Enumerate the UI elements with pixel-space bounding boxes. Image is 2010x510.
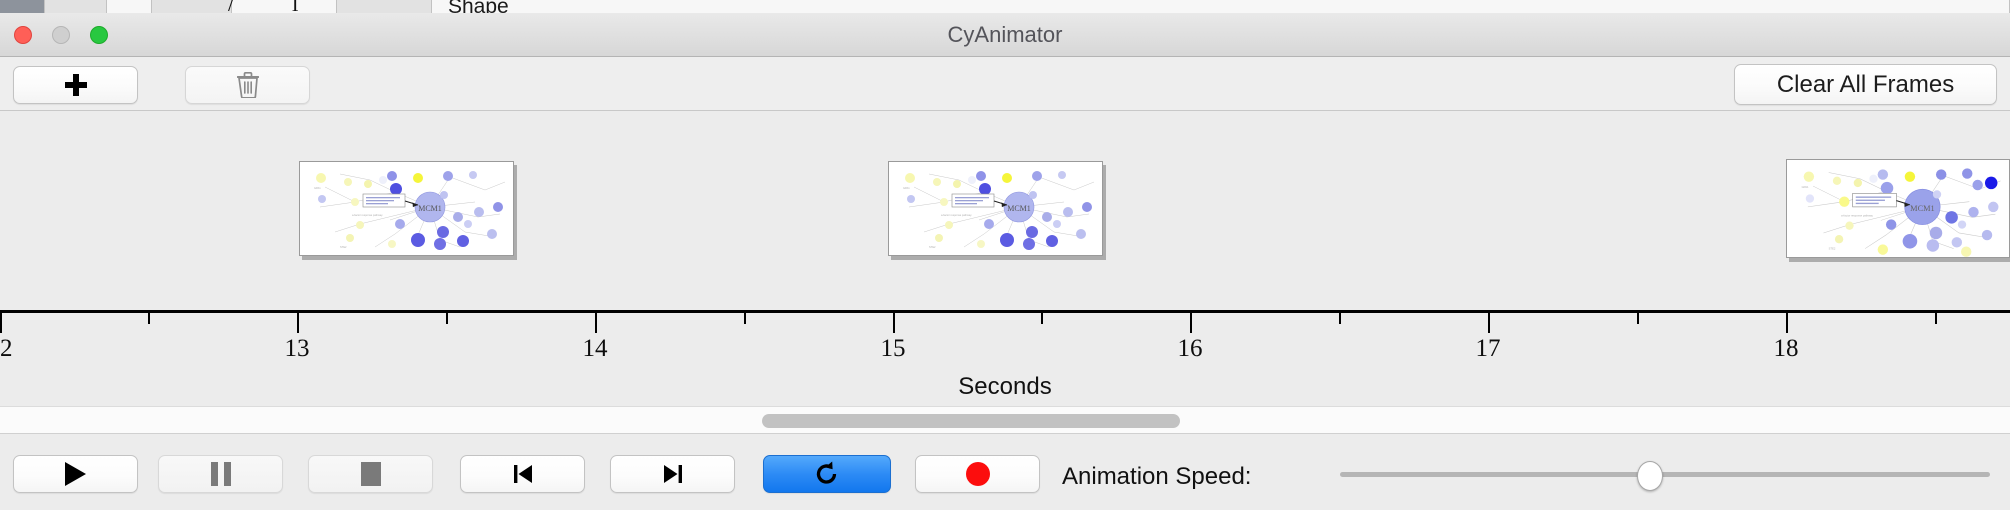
axis-tick-minor xyxy=(1637,313,1639,324)
axis-tick-major xyxy=(1488,313,1490,333)
bg-chunk xyxy=(45,0,107,13)
axis-tick-major xyxy=(893,313,895,333)
svg-text:STE2: STE2 xyxy=(340,245,347,249)
axis-tick-major xyxy=(297,313,299,333)
svg-text:STE2: STE2 xyxy=(929,245,936,249)
timeline-axis xyxy=(0,310,2010,313)
scrollbar-thumb[interactable] xyxy=(762,414,1180,428)
axis-tick-label: 18 xyxy=(1774,335,1799,363)
play-icon xyxy=(65,462,86,486)
skip-previous-icon xyxy=(510,461,536,487)
bg-chunk xyxy=(0,0,45,13)
page-title: CyAnimator xyxy=(0,13,2010,57)
maximize-button[interactable] xyxy=(90,26,108,44)
axis-tick-major xyxy=(1190,313,1192,333)
title-bar: CyAnimator xyxy=(0,13,2010,57)
toolbar: Clear All Frames xyxy=(0,57,2010,111)
frame-thumbnail-1[interactable]: MCM1 a-factor response pathway GPA1 STE2 xyxy=(299,161,514,256)
minimize-button[interactable] xyxy=(52,26,70,44)
frame-thumbnail-3[interactable]: MCM1 a-factor response pathway GPA1 STE2 xyxy=(1786,159,2010,258)
record-icon xyxy=(966,462,990,486)
bg-chunk xyxy=(337,0,432,13)
axis-tick-minor xyxy=(1041,313,1043,324)
axis-title: Seconds xyxy=(0,373,2010,401)
axis-tick-minor xyxy=(1339,313,1341,324)
svg-text:a-factor response pathway: a-factor response pathway xyxy=(352,213,383,217)
axis-tick-major xyxy=(0,313,2,333)
skip-next-icon xyxy=(660,461,686,487)
pause-icon xyxy=(211,462,231,486)
bg-slash-glyph: / xyxy=(228,0,234,13)
bg-chunk xyxy=(232,0,337,13)
previous-frame-button[interactable] xyxy=(460,455,585,493)
svg-text:MCM1: MCM1 xyxy=(1910,204,1935,213)
svg-text:GPA1: GPA1 xyxy=(1802,185,1809,189)
add-frame-button[interactable] xyxy=(13,66,138,104)
svg-text:a-factor response pathway: a-factor response pathway xyxy=(1841,213,1873,217)
axis-tick-minor xyxy=(148,313,150,324)
axis-tick-major xyxy=(1786,313,1788,333)
axis-tick-minor xyxy=(1935,313,1937,324)
timeline-scrollbar[interactable] xyxy=(0,406,2010,434)
trash-icon xyxy=(237,72,259,98)
stop-button[interactable] xyxy=(308,455,433,493)
network-graph-thumbnail: MCM1 a-factor response pathway GPA1 STE2 xyxy=(300,162,514,256)
clear-all-frames-button[interactable]: Clear All Frames xyxy=(1734,64,1997,105)
svg-text:STE2: STE2 xyxy=(1829,247,1836,251)
record-button[interactable] xyxy=(915,455,1040,493)
loop-button[interactable] xyxy=(763,455,891,493)
bg-window-label: Shape xyxy=(448,0,509,13)
axis-tick-label: 13 xyxy=(285,335,310,363)
animation-speed-label: Animation Speed: xyxy=(1062,463,1251,491)
animation-speed-slider[interactable] xyxy=(1340,472,1990,477)
next-frame-button[interactable] xyxy=(610,455,735,493)
timeline-panel[interactable]: MCM1 a-factor response pathway GPA1 STE2 xyxy=(0,111,2010,406)
axis-tick-label: 17 xyxy=(1476,335,1501,363)
play-button[interactable] xyxy=(13,455,138,493)
pause-button[interactable] xyxy=(158,455,283,493)
bg-chunk xyxy=(152,0,232,13)
bg-chunk xyxy=(107,0,152,13)
stop-icon xyxy=(361,462,381,486)
axis-tick-label: 15 xyxy=(881,335,906,363)
axis-tick-minor xyxy=(446,313,448,324)
svg-text:MCM1: MCM1 xyxy=(418,204,442,213)
axis-tick-label: 14 xyxy=(583,335,608,363)
axis-tick-major xyxy=(595,313,597,333)
bg-bar-glyph: l xyxy=(292,0,298,13)
svg-text:MCM1: MCM1 xyxy=(1007,204,1031,213)
network-graph-thumbnail: MCM1 a-factor response pathway GPA1 STE2 xyxy=(1787,160,2010,258)
svg-text:a-factor response pathway: a-factor response pathway xyxy=(941,213,972,217)
animation-speed-slider-thumb[interactable] xyxy=(1637,461,1663,491)
playback-bar: Animation Speed: xyxy=(0,435,2010,510)
loop-icon xyxy=(813,460,841,488)
background-window-strip: / l Shape xyxy=(0,0,2010,13)
plus-icon xyxy=(65,74,87,96)
network-graph-thumbnail: MCM1 a-factor response pathway GPA1 STE2 xyxy=(889,162,1103,256)
axis-tick-label: 12 xyxy=(0,335,13,363)
delete-frame-button[interactable] xyxy=(185,66,310,104)
cyanimator-window: / l Shape CyAnimator Clear All Frames xyxy=(0,0,2010,510)
axis-tick-label: 16 xyxy=(1178,335,1203,363)
axis-tick-minor xyxy=(744,313,746,324)
svg-text:GPA1: GPA1 xyxy=(314,186,321,190)
bg-chunk xyxy=(432,0,2010,13)
frame-thumbnail-2[interactable]: MCM1 a-factor response pathway GPA1 STE2 xyxy=(888,161,1103,256)
close-button[interactable] xyxy=(14,26,32,44)
svg-text:GPA1: GPA1 xyxy=(903,186,910,190)
